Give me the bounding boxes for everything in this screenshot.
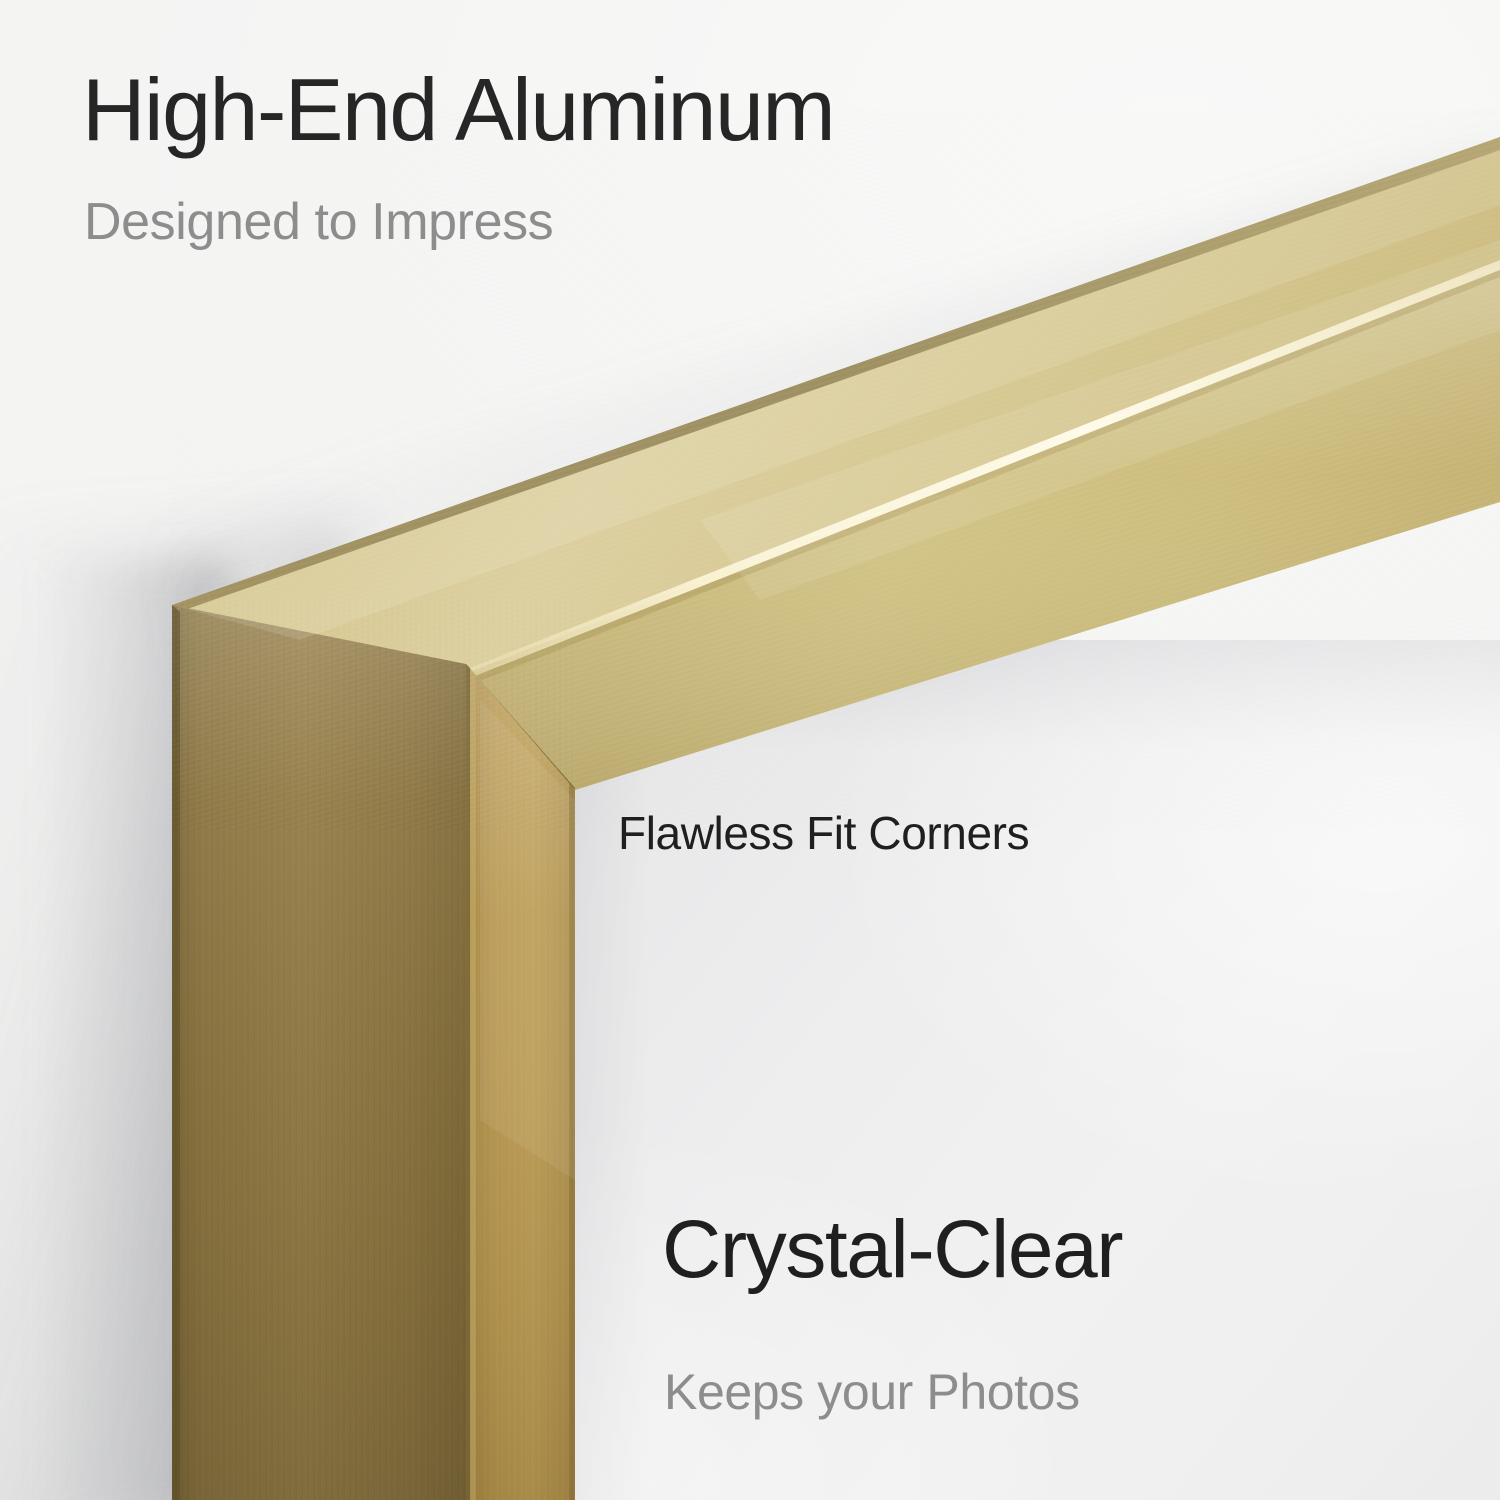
page-subtitle: Designed to Impress bbox=[84, 196, 553, 248]
callout-glass-subtitle: Keeps your Photos Looking Sharp bbox=[664, 1242, 1080, 1500]
product-feature-image: High-End Aluminum Designed to Impress Fl… bbox=[0, 0, 1500, 1500]
callout-flawless-fit-corners: Flawless Fit Corners bbox=[618, 810, 1029, 856]
page-title: High-End Aluminum bbox=[82, 66, 834, 154]
callout-glass-subtitle-line-1: Keeps your Photos bbox=[664, 1362, 1080, 1422]
